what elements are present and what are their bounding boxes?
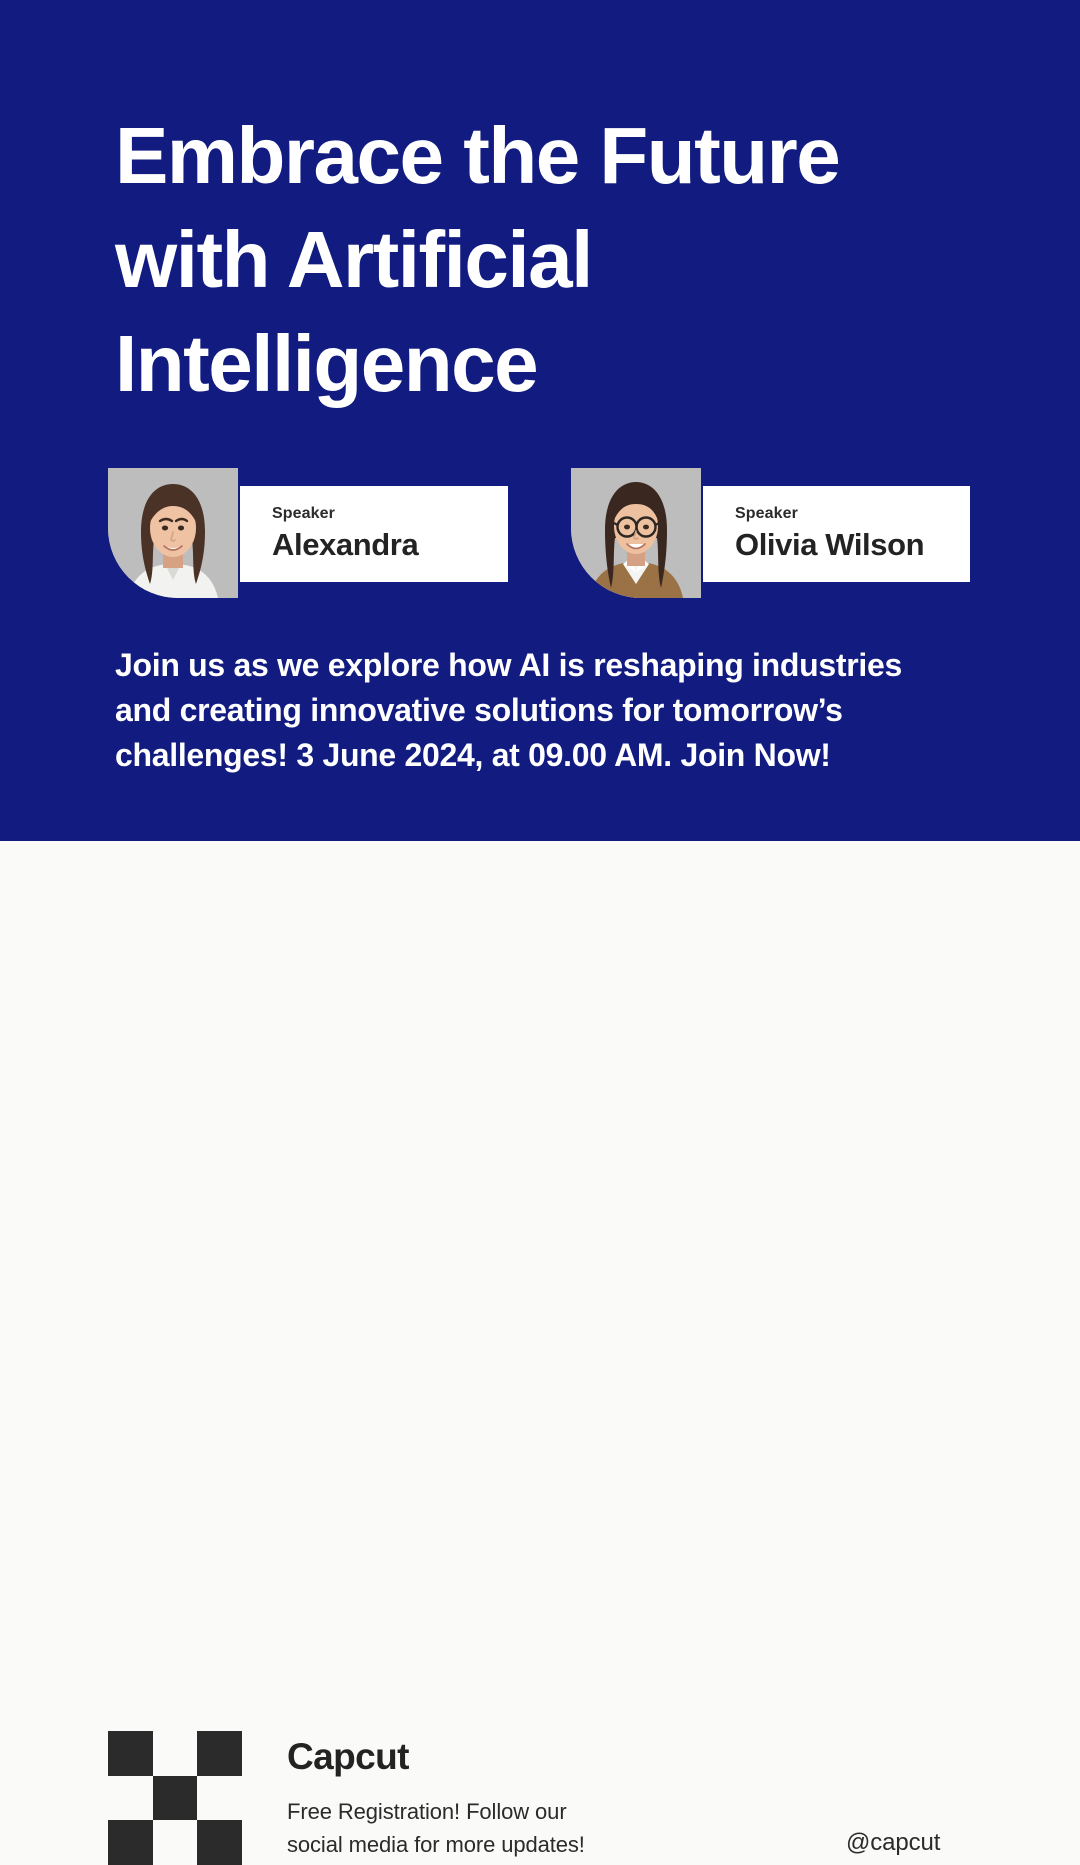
page-title: Embrace the Future with Artificial Intel… xyxy=(115,104,1015,416)
logo-cell xyxy=(197,1820,242,1865)
speaker-card[interactable]: Speaker Alexandra xyxy=(108,468,508,598)
hero-section: Embrace the Future with Artificial Intel… xyxy=(0,0,1080,841)
logo-cell xyxy=(197,1776,242,1821)
social-handle[interactable]: @capcut xyxy=(846,1828,940,1858)
speaker-role-label: Speaker xyxy=(272,504,508,524)
logo-cell xyxy=(108,1820,153,1865)
logo-cell xyxy=(108,1776,153,1821)
checkerboard-logo-icon xyxy=(108,1731,242,1865)
speaker-name: Olivia Wilson xyxy=(735,526,970,564)
brand-name: Capcut xyxy=(287,1734,409,1780)
speaker-info-panel: Speaker Olivia Wilson xyxy=(703,486,970,582)
avatar xyxy=(108,468,238,598)
speaker-info-panel: Speaker Alexandra xyxy=(240,486,508,582)
logo-cell xyxy=(153,1776,198,1821)
avatar xyxy=(571,468,701,598)
event-description: Join us as we explore how AI is reshapin… xyxy=(115,643,995,778)
logo-cell xyxy=(153,1731,198,1776)
speaker-name: Alexandra xyxy=(272,526,508,564)
logo-cell xyxy=(153,1820,198,1865)
brand-tagline: Free Registration! Follow our social med… xyxy=(287,1795,727,1861)
logo-cell xyxy=(197,1731,242,1776)
speaker-role-label: Speaker xyxy=(735,504,970,524)
logo-cell xyxy=(108,1731,153,1776)
footer-section: Capcut Free Registration! Follow our soc… xyxy=(0,841,1080,1080)
poster-canvas: Embrace the Future with Artificial Intel… xyxy=(0,0,1080,1080)
speaker-list: Speaker Alexandra xyxy=(0,468,1080,598)
speaker-card[interactable]: Speaker Olivia Wilson xyxy=(571,468,970,598)
